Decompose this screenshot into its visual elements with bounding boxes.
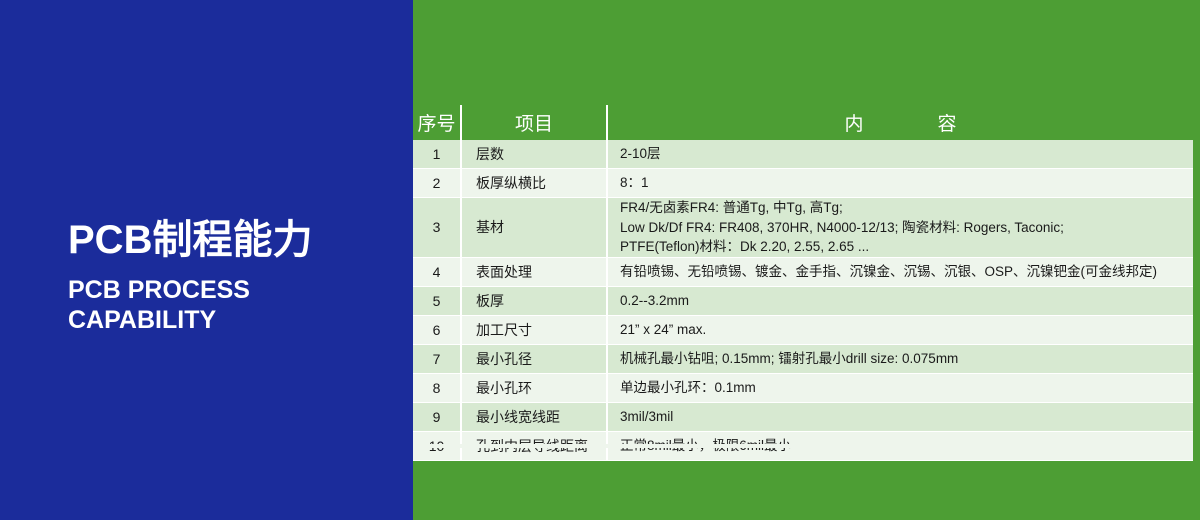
cell-content-line: 有铅喷锡、无铅喷锡、镀金、金手指、沉镍金、沉锡、沉银、OSP、沉镍钯金(可金线邦…	[620, 262, 1193, 282]
cell-content: FR4/无卤素FR4: 普通Tg, 中Tg, 高Tg;Low Dk/Df FR4…	[607, 198, 1193, 258]
cell-no: 8	[413, 373, 461, 402]
cell-item: 最小孔径	[461, 344, 607, 373]
cell-content-line: FR4/无卤素FR4: 普通Tg, 中Tg, 高Tg;	[620, 198, 1193, 218]
table-header-row: 序号 项目 内 容	[413, 105, 1193, 140]
cell-item: 最小线宽线距	[461, 402, 607, 431]
cell-no: 5	[413, 286, 461, 315]
cell-content-line: 3mil/3mil	[620, 407, 1193, 427]
cell-content-line: 8：1	[620, 173, 1193, 193]
slide-root: PCB制程能力 PCB PROCESS CAPABILITY 序号 项目 内 容…	[0, 0, 1200, 520]
cell-content: 2-10层	[607, 140, 1193, 169]
table-row: 7最小孔径机械孔最小钻咀; 0.15mm; 镭射孔最小drill size: 0…	[413, 344, 1193, 373]
cell-content-line: 机械孔最小钻咀; 0.15mm; 镭射孔最小drill size: 0.075m…	[620, 349, 1193, 369]
cell-no: 9	[413, 402, 461, 431]
table-row: 8最小孔环单边最小孔环：0.1mm	[413, 373, 1193, 402]
column-header-content: 内 容	[607, 105, 1193, 140]
cell-content: 有铅喷锡、无铅喷锡、镀金、金手指、沉镍金、沉锡、沉银、OSP、沉镍钯金(可金线邦…	[607, 257, 1193, 286]
table-bottom-edge	[413, 444, 1193, 448]
cell-no: 2	[413, 169, 461, 198]
cell-no: 6	[413, 315, 461, 344]
pcb-capability-table: 序号 项目 内 容 1层数2-10层2板厚纵横比8：13基材FR4/无卤素FR4…	[413, 105, 1193, 461]
page-subtitle-line1: PCB PROCESS	[68, 275, 408, 306]
cell-item: 加工尺寸	[461, 315, 607, 344]
cell-item: 基材	[461, 198, 607, 258]
cell-content: 机械孔最小钻咀; 0.15mm; 镭射孔最小drill size: 0.075m…	[607, 344, 1193, 373]
cell-no: 7	[413, 344, 461, 373]
cell-item: 最小孔环	[461, 373, 607, 402]
table-row: 1层数2-10层	[413, 140, 1193, 169]
column-header-no: 序号	[413, 105, 461, 140]
cell-content: 单边最小孔环：0.1mm	[607, 373, 1193, 402]
cell-content-line: PTFE(Teflon)材料：Dk 2.20, 2.55, 2.65 ...	[620, 237, 1193, 257]
cell-content-line: 2-10层	[620, 144, 1193, 164]
page-subtitle-line2: CAPABILITY	[68, 305, 408, 336]
column-header-content-label: 内 容	[832, 114, 968, 135]
table-row: 3基材FR4/无卤素FR4: 普通Tg, 中Tg, 高Tg;Low Dk/Df …	[413, 198, 1193, 258]
table-row: 5板厚0.2--3.2mm	[413, 286, 1193, 315]
cell-item: 层数	[461, 140, 607, 169]
table-row: 2板厚纵横比8：1	[413, 169, 1193, 198]
cell-item: 板厚纵横比	[461, 169, 607, 198]
cell-content: 8：1	[607, 169, 1193, 198]
column-header-item: 项目	[461, 105, 607, 140]
page-title: PCB制程能力	[68, 218, 408, 263]
table-row: 4表面处理有铅喷锡、无铅喷锡、镀金、金手指、沉镍金、沉锡、沉银、OSP、沉镍钯金…	[413, 257, 1193, 286]
cell-item: 板厚	[461, 286, 607, 315]
table-header: 序号 项目 内 容	[413, 105, 1193, 140]
page-subtitle: PCB PROCESS CAPABILITY	[68, 275, 408, 336]
cell-no: 4	[413, 257, 461, 286]
table-row: 9最小线宽线距3mil/3mil	[413, 402, 1193, 431]
table-body: 1层数2-10层2板厚纵横比8：13基材FR4/无卤素FR4: 普通Tg, 中T…	[413, 140, 1193, 460]
left-blue-panel: PCB制程能力 PCB PROCESS CAPABILITY	[0, 0, 413, 520]
cell-no: 3	[413, 198, 461, 258]
title-block: PCB制程能力 PCB PROCESS CAPABILITY	[68, 218, 408, 336]
cell-content: 3mil/3mil	[607, 402, 1193, 431]
cell-content-line: 0.2--3.2mm	[620, 291, 1193, 311]
cell-content-line: Low Dk/Df FR4: FR408, 370HR, N4000-12/13…	[620, 218, 1193, 238]
cell-item: 表面处理	[461, 257, 607, 286]
cell-content-line: 21” x 24” max.	[620, 320, 1193, 340]
cell-content: 21” x 24” max.	[607, 315, 1193, 344]
cell-no: 1	[413, 140, 461, 169]
cell-content: 0.2--3.2mm	[607, 286, 1193, 315]
table-row: 6加工尺寸21” x 24” max.	[413, 315, 1193, 344]
cell-content-line: 单边最小孔环：0.1mm	[620, 378, 1193, 398]
